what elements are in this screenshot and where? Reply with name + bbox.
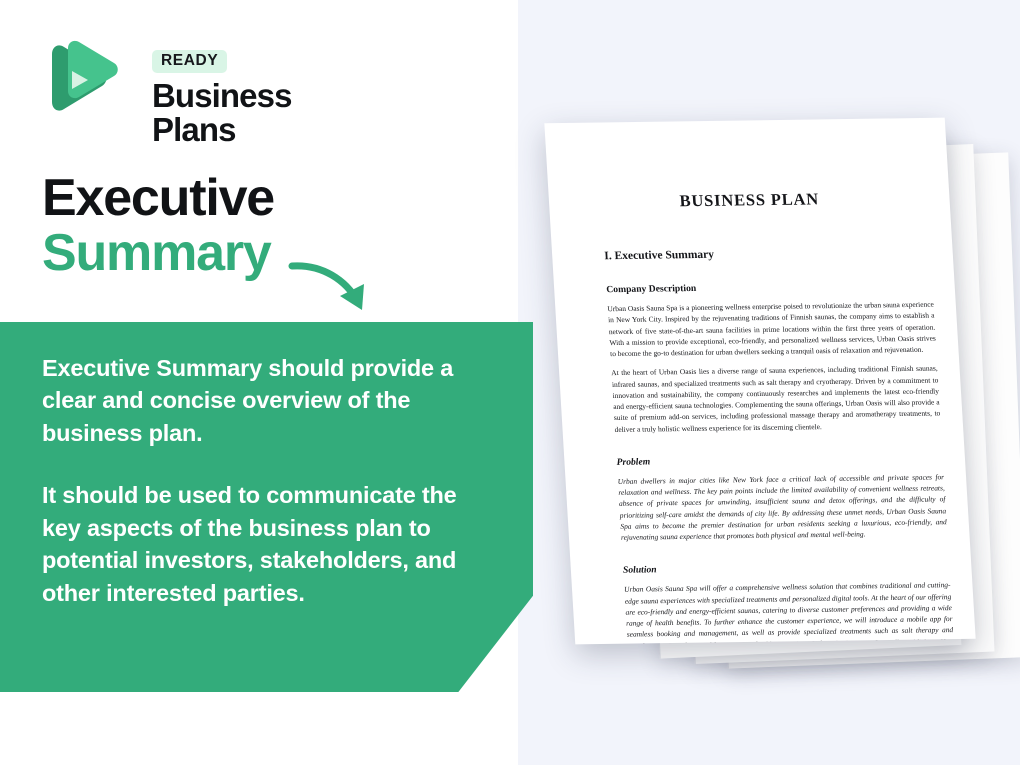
- brand-lockup: READY Business Plans: [114, 36, 374, 122]
- document-paragraph: Urban Oasis Sauna Spa will offer a compr…: [624, 579, 956, 644]
- document-subheading-company-description: Company Description: [606, 279, 955, 295]
- document-section-heading: I. Executive Summary: [604, 245, 953, 262]
- document-subheading-solution: Solution: [623, 560, 972, 576]
- slide-canvas: sh by a nts ual its nish by a ents onal …: [0, 0, 1020, 765]
- brand-logo[interactable]: READY Business Plans: [42, 36, 342, 124]
- document-body: BUSINESS PLAN I. Executive Summary Compa…: [544, 118, 975, 645]
- page-title-line-1: Executive: [42, 172, 462, 225]
- document-paragraph: Urban dwellers in major cities like New …: [617, 471, 947, 543]
- page-title-line-2: Summary: [42, 225, 462, 281]
- document-subheading-problem: Problem: [616, 452, 965, 468]
- callout-paragraph-2: It should be used to communicate the key…: [42, 479, 492, 609]
- ready-badge: READY: [152, 50, 227, 73]
- document-paragraph: At the heart of Urban Oasis lies a diver…: [611, 363, 941, 435]
- play-triangle-logo-icon: [42, 38, 122, 118]
- callout-paragraph-1: Executive Summary should provide a clear…: [42, 352, 492, 449]
- callout-copy: Executive Summary should provide a clear…: [42, 352, 492, 609]
- document-title: BUSINESS PLAN: [548, 188, 950, 214]
- brand-name: Business Plans: [152, 79, 374, 148]
- curved-down-right-arrow-icon: [288, 258, 384, 324]
- document-paragraph: Urban Oasis Sauna Spa is a pioneering we…: [607, 299, 937, 360]
- document-page-front[interactable]: BUSINESS PLAN I. Executive Summary Compa…: [544, 118, 975, 645]
- page-title: Executive Summary: [42, 172, 462, 281]
